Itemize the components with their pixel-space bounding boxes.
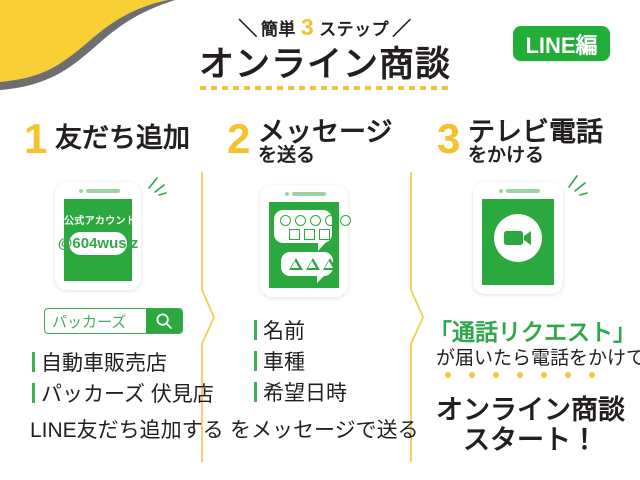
square-glyph — [319, 229, 330, 240]
sparkle-icon — [566, 174, 590, 198]
step-1-heading: 友だち追加 — [55, 124, 190, 152]
circle-glyph — [310, 215, 321, 226]
step-3-big-line-2: スタート！ — [421, 418, 640, 457]
bullet-text: 名前 — [263, 315, 305, 345]
list-item: 自動車販売店 — [32, 347, 214, 377]
step-2-heading: メッセージ を送る — [258, 118, 392, 166]
step-2-bullet-list: 名前 車種 希望日時 — [254, 315, 347, 408]
official-account-id-label: 公式アカウントID — [64, 212, 132, 227]
triangle-glyph — [289, 258, 303, 270]
bubble-shape-row-squares — [289, 229, 330, 240]
phone-1-camera-dot — [79, 189, 83, 193]
separator-dot — [445, 372, 451, 378]
phone-3-camera-dot — [499, 189, 503, 193]
page-title: オンライン商談 — [180, 38, 470, 84]
bullet-text: パッカーズ 伏見店 — [41, 378, 214, 408]
step-3-number: 3 — [437, 118, 460, 160]
list-item: 車種 — [254, 346, 347, 376]
step-1-heading-line1: 友だち追加 — [55, 124, 190, 152]
phone-2-camera-dot — [285, 192, 289, 196]
line-search-box[interactable]: パッカーズ — [44, 308, 183, 334]
triangle-glyph — [323, 258, 337, 270]
step-3-sparkle-decoration — [566, 174, 590, 203]
bubble-shape-row-triangles — [289, 258, 337, 270]
list-item: 名前 — [254, 315, 347, 345]
step-column-1: 1 友だち追加 公式アカウントID @604wuslz — [0, 110, 208, 480]
list-item: 希望日時 — [254, 377, 347, 407]
phone-2-screen — [269, 202, 339, 288]
bullet-bar — [32, 383, 35, 403]
video-call-button[interactable] — [494, 214, 542, 262]
phone-3-screen — [482, 199, 554, 285]
line-edition-badge: LINE編 — [513, 26, 610, 61]
search-button[interactable] — [146, 309, 182, 333]
sparkle-icon — [146, 176, 168, 198]
search-icon — [155, 312, 173, 330]
search-input-value[interactable]: パッカーズ — [45, 309, 146, 333]
step-1-footer-text: LINE友だち追加する — [30, 414, 224, 444]
list-item: パッカーズ 伏見店 — [32, 378, 214, 408]
separator-dot — [589, 372, 595, 378]
dot-separator — [445, 372, 595, 378]
step-3-phone-mockup — [473, 182, 563, 294]
step-3-heading-line1: テレビ電話 — [468, 118, 603, 146]
separator-dot — [517, 372, 523, 378]
step-3-heading: テレビ電話 をかける — [468, 118, 603, 166]
bullet-text: 希望日時 — [263, 377, 347, 407]
chat-bubble-incoming — [274, 210, 332, 243]
step-2-number: 2 — [227, 118, 250, 160]
step-3-heading-line2: をかける — [468, 146, 603, 166]
phone-1-screen: 公式アカウントID @604wuslz — [64, 199, 132, 281]
circle-glyph — [280, 215, 291, 226]
phone-3-speaker-bar — [506, 189, 540, 193]
step-3-title: 3 テレビ電話 をかける — [421, 120, 640, 180]
infographic-canvas: ＼ 簡単 3 ステップ ／ オンライン商談 LINE編 1 友だち追加 — [0, 0, 640, 480]
separator-dot — [469, 372, 475, 378]
triangle-glyph — [306, 258, 320, 270]
phone-2-speaker-bar — [292, 192, 326, 196]
bullet-bar — [254, 382, 257, 402]
bullet-text: 車種 — [263, 346, 305, 376]
video-call-icon — [503, 227, 533, 249]
phone-3-speaker-notch — [499, 189, 540, 193]
bullet-text: 自動車販売店 — [41, 347, 167, 377]
bubble-tail-top — [318, 242, 326, 251]
step-1-bullet-list: 自動車販売店 パッカーズ 伏見店 — [32, 347, 214, 409]
step-2-heading-line2: を送る — [258, 146, 392, 166]
bullet-bar — [254, 351, 257, 371]
step-1-phone-mockup: 公式アカウントID @604wuslz — [55, 182, 141, 290]
step-column-2: 2 メッセージ を送る — [212, 110, 417, 480]
circle-glyph — [325, 215, 336, 226]
phone-2-speaker-notch — [285, 192, 326, 196]
square-glyph — [289, 229, 300, 240]
circle-glyph — [295, 215, 306, 226]
chat-bubble-outgoing — [281, 252, 333, 276]
step-1-number: 1 — [24, 118, 47, 160]
separator-dot — [565, 372, 571, 378]
header: ＼ 簡単 3 ステップ ／ オンライン商談 LINE編 — [0, 0, 640, 110]
phone-1-speaker-notch — [79, 189, 120, 193]
separator-dot — [541, 372, 547, 378]
bullet-bar — [32, 352, 35, 372]
call-request-highlight: 「通話リクエスト」 — [429, 313, 636, 347]
title-dashed-underline — [200, 86, 450, 90]
step-2-phone-mockup — [260, 185, 348, 297]
step-column-3: 3 テレビ電話 をかける — [421, 110, 640, 480]
step-3-sub-text: が届いたら電話をかけて — [436, 343, 640, 370]
step-1-title: 1 友だち追加 — [0, 120, 208, 180]
bullet-bar — [254, 320, 257, 340]
official-account-id-value: @604wuslz — [69, 232, 127, 255]
step-2-title: 2 メッセージ を送る — [212, 120, 417, 180]
bubble-shape-row-circles — [280, 215, 351, 226]
step-2-heading-line1: メッセージ — [258, 118, 392, 146]
circle-glyph — [340, 215, 351, 226]
step-2-footer-text: をメッセージで送る — [230, 414, 419, 444]
phone-1-speaker-bar — [86, 189, 120, 193]
separator-dot — [493, 372, 499, 378]
square-glyph — [304, 229, 315, 240]
bubble-tail-bottom — [317, 275, 325, 283]
step-1-sparkle-decoration — [146, 176, 168, 203]
